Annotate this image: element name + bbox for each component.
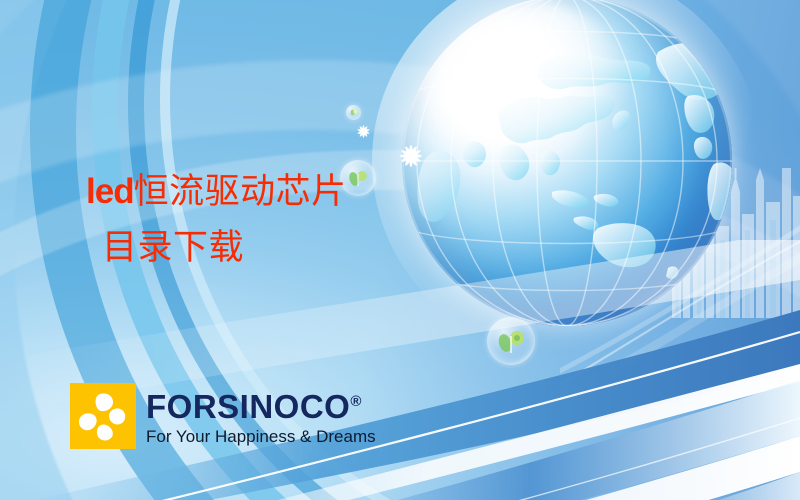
logo-name: FORSINOCO® [146, 384, 376, 425]
bubble-tiny-icon [346, 105, 361, 120]
headline-latin-prefix: led [86, 172, 134, 211]
logo-tagline: For Your Happiness & Dreams [146, 426, 376, 448]
registered-trademark-icon: ® [350, 393, 361, 410]
four-petal-pinwheel-icon [70, 383, 136, 449]
page-title: led恒流驱动芯片 目录下载 [86, 164, 347, 276]
promo-banner: led恒流驱动芯片 目录下载 FORSINOCO® For Your Happi… [0, 0, 800, 500]
diagonal-ribbon-bands [0, 240, 800, 500]
brand-logo[interactable]: FORSINOCO® For Your Happiness & Dreams [70, 383, 376, 449]
logo-name-text: FORSINOCO [146, 388, 350, 425]
daisy-flower-icon [396, 141, 426, 171]
headline-line-1: led恒流驱动芯片 [86, 164, 347, 220]
logo-text-block: FORSINOCO® For Your Happiness & Dreams [146, 383, 376, 448]
daisy-flower-small-icon [355, 123, 372, 140]
headline-cjk-suffix: 恒流驱动芯片 [134, 172, 347, 211]
headline-line-2: 目录下载 [102, 220, 347, 276]
